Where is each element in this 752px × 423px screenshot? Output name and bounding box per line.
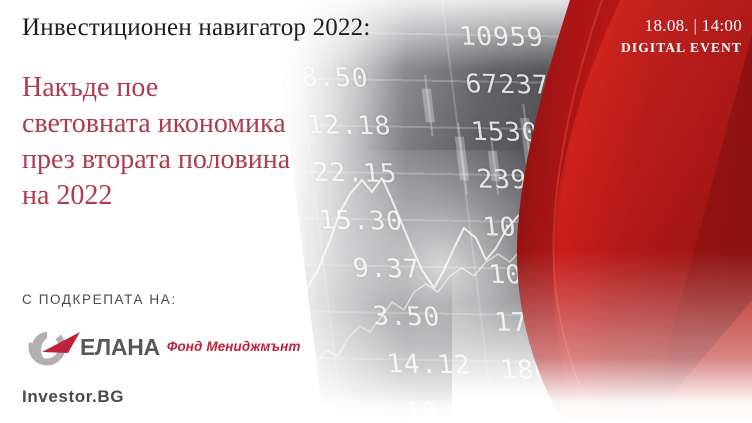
- event-banner: 8.50 12.18 22.15 15.30 9.37 3.50 14.12 1…: [0, 0, 752, 423]
- quote-value: 51047: [505, 403, 593, 423]
- quote-value: 10854: [487, 260, 575, 291]
- quote-value: 67237: [464, 69, 552, 100]
- sponsor-logo[interactable]: ЕЛАНА Фонд Мениджмънт: [20, 326, 300, 368]
- quote-value: 10959: [458, 22, 546, 53]
- quote-value: 9.37: [351, 254, 422, 285]
- headline: Накъде пое световната икономика през вто…: [22, 70, 367, 214]
- elana-c-arrow-glyph: [20, 326, 86, 368]
- event-datetime: 18.08. | 14:00: [645, 16, 742, 36]
- headline-line: световната икономика: [22, 106, 367, 142]
- elana-wordmark: ЕЛАНА: [80, 334, 160, 361]
- headline-line: на 2022: [22, 178, 367, 214]
- elana-mark-icon: [20, 326, 86, 368]
- page-title: Инвестиционен навигатор 2022:: [22, 14, 371, 42]
- quote-value: 3.50: [371, 302, 442, 333]
- elana-descriptor: Фонд Мениджмънт: [167, 339, 301, 355]
- quote-value: 18610: [499, 355, 587, 386]
- quote-value: 15301: [469, 117, 557, 148]
- headline-line: Накъде пое: [22, 70, 367, 106]
- headline-line: през втората половина: [22, 142, 367, 178]
- quote-value: 19.55: [403, 397, 491, 423]
- quote-value: 10883: [481, 212, 569, 243]
- quote-value: 17043: [493, 308, 581, 339]
- quote-value: 23956: [475, 165, 563, 196]
- quote-value: 14.12: [385, 349, 473, 380]
- event-type-badge: DIGITAL EVENT: [621, 40, 742, 56]
- investor-bg-brand[interactable]: Investor.BG: [22, 387, 124, 407]
- sponsor-label: С ПОДКРЕПАТА НА:: [22, 292, 177, 307]
